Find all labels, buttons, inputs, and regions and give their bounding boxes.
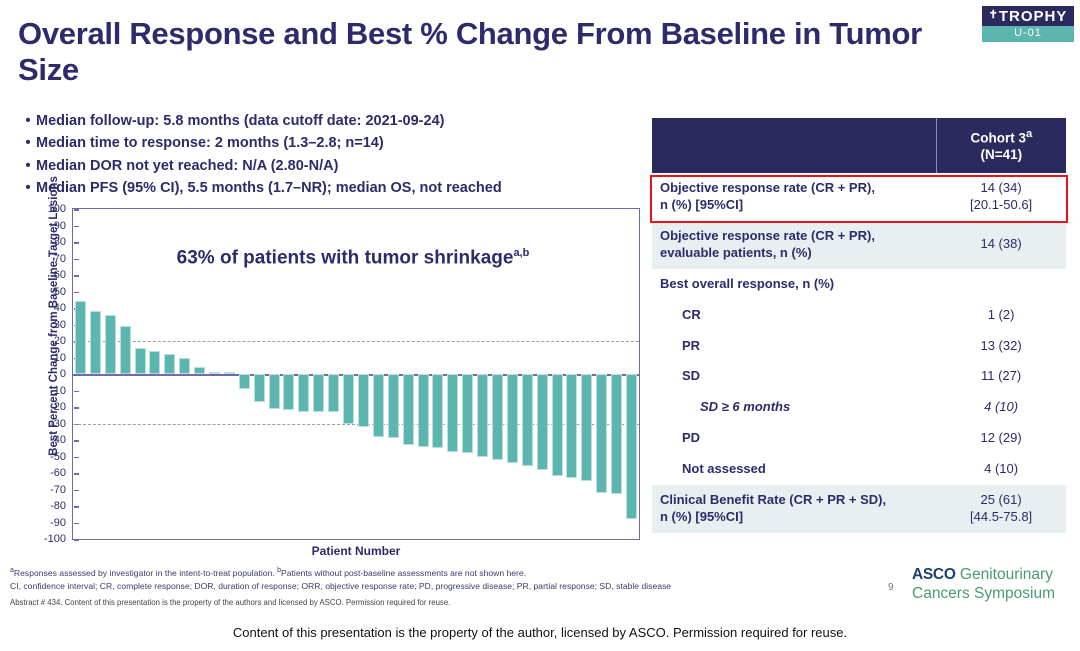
asco-subtitle-1: Genitourinary <box>956 566 1053 583</box>
chart-y-tick: -60 <box>50 467 73 479</box>
bullet-text: Median time to response: 2 months (1.3–2… <box>36 132 384 154</box>
chart-y-tick: 20 <box>54 335 73 347</box>
footnote-definitions: aResponses assessed by investigator in t… <box>10 566 770 593</box>
chart-bar <box>194 367 205 374</box>
table-cell-value: 13 (32) <box>936 331 1066 362</box>
table-cell-value: 14 (38) <box>936 221 1066 269</box>
chart-y-tick: -20 <box>50 401 73 413</box>
table-cell-label: CR <box>652 300 936 331</box>
chart-bar <box>581 374 592 481</box>
bullet-dot-icon: • <box>20 110 36 132</box>
chart-y-tick: 30 <box>54 319 73 331</box>
table-cell-label: PR <box>652 331 936 362</box>
chart-bar <box>179 358 190 375</box>
chart-annotation-text: 63% of patients with tumor shrinkage <box>177 247 514 268</box>
bullet-text: Median follow-up: 5.8 months (data cutof… <box>36 110 444 132</box>
table-cell-value: 11 (27) <box>936 361 1066 392</box>
table-cell-value: 25 (61)[44.5-75.8] <box>936 485 1066 533</box>
table-cell-label: Objective response rate (CR + PR),evalua… <box>652 221 936 269</box>
page-title: Overall Response and Best % Change From … <box>18 16 948 88</box>
chart-bar <box>373 374 384 437</box>
chart-bar <box>254 374 265 402</box>
chart-bar <box>120 326 131 374</box>
chart-bar <box>611 374 622 494</box>
asco-subtitle-2: Cancers Symposium <box>912 585 1055 602</box>
bullet-dot-icon: • <box>20 132 36 154</box>
table-cell-label: Objective response rate (CR + PR),n (%) … <box>652 173 936 221</box>
asco-logo-line1: ASCO Genitourinary <box>912 566 1055 585</box>
chart-bar <box>403 374 414 445</box>
chart-y-tick: 60 <box>54 269 73 281</box>
chart-y-tick: -70 <box>50 484 73 496</box>
chart-bar <box>239 374 250 389</box>
footnote-text-b: Patients without post-baseline assessmen… <box>281 568 526 578</box>
chart-bar <box>432 374 443 448</box>
trophy-logo-text: TROPHY <box>999 8 1068 25</box>
chart-y-tick: -100 <box>44 533 73 545</box>
chart-y-tick: 70 <box>54 253 73 265</box>
chart-bar <box>537 374 548 470</box>
chart-bar <box>477 374 488 457</box>
chart-y-tick: 80 <box>54 236 73 248</box>
chart-plot-area: 1009080706050403020100-10-20-30-40-50-60… <box>72 208 640 540</box>
footnote-abstract: Abstract # 434. Content of this presenta… <box>10 598 770 607</box>
chart-bar <box>298 374 309 412</box>
trophy-logo-sub: U-01 <box>982 26 1074 42</box>
chart-bar <box>343 374 354 424</box>
chart-y-tick: -30 <box>50 418 73 430</box>
table-header-blank <box>652 118 936 173</box>
table-cell-value <box>936 269 1066 300</box>
chart-bar <box>328 374 339 412</box>
footnote-line-2: CI, confidence interval; CR, complete re… <box>10 580 770 593</box>
chart-y-tick: 40 <box>54 302 73 314</box>
asco-logo: ASCO Genitourinary Cancers Symposium <box>912 566 1055 603</box>
table-cell-value: 4 (10) <box>936 392 1066 423</box>
table-cell-value: 14 (34)[20.1-50.6] <box>936 173 1066 221</box>
cohort-label: Cohort 3 <box>970 131 1026 146</box>
cross-icon: ✝ <box>989 9 999 21</box>
chart-bar <box>626 374 637 519</box>
chart-y-tick: 90 <box>54 220 73 232</box>
chart-bar <box>209 372 220 374</box>
table-cell-label: Clinical Benefit Rate (CR + PR + SD),n (… <box>652 485 936 533</box>
chart-y-tick: 50 <box>54 286 73 298</box>
chart-y-tick: -10 <box>50 385 73 397</box>
chart-y-tick: -50 <box>50 451 73 463</box>
table-row: Objective response rate (CR + PR),n (%) … <box>652 173 1066 221</box>
bullet-list: •Median follow-up: 5.8 months (data cuto… <box>20 110 650 200</box>
table-cell-value: 12 (29) <box>936 423 1066 454</box>
chart-bar <box>552 374 563 476</box>
chart-y-tick: -80 <box>50 500 73 512</box>
waterfall-chart: Best Percent Change from Baseline-Target… <box>10 200 646 565</box>
chart-bar <box>462 374 473 453</box>
chart-bar <box>269 374 280 409</box>
asco-brand: ASCO <box>912 566 956 583</box>
table-cell-value: 4 (10) <box>936 454 1066 485</box>
bullet-dot-icon: • <box>20 155 36 177</box>
slide: ✝TROPHY U-01 Overall Response and Best %… <box>0 0 1080 614</box>
bullet-dot-icon: • <box>20 177 36 199</box>
table-row: PD12 (29) <box>652 423 1066 454</box>
cohort-sup: a <box>1026 128 1032 140</box>
page-number: 9 <box>888 582 894 593</box>
list-item: •Median time to response: 2 months (1.3–… <box>20 132 650 154</box>
table-header-cohort: Cohort 3a(N=41) <box>936 118 1066 173</box>
list-item: •Median PFS (95% CI), 5.5 months (1.7–NR… <box>20 177 650 199</box>
chart-y-axis-label: Best Percent Change from Baseline-Target… <box>48 176 60 456</box>
chart-y-tick: -90 <box>50 517 73 529</box>
chart-x-axis-label: Patient Number <box>72 544 640 558</box>
chart-bar <box>522 374 533 466</box>
table-header-row: Cohort 3a(N=41) <box>652 118 1066 173</box>
chart-bar <box>596 374 607 493</box>
chart-bar <box>224 372 235 374</box>
table-row: SD11 (27) <box>652 361 1066 392</box>
list-item: •Median DOR not yet reached: N/A (2.80-N… <box>20 155 650 177</box>
results-table: Cohort 3a(N=41)Objective response rate (… <box>652 118 1066 533</box>
chart-bar <box>135 348 146 374</box>
table-row: Clinical Benefit Rate (CR + PR + SD),n (… <box>652 485 1066 533</box>
table-row: PR13 (32) <box>652 331 1066 362</box>
chart-y-tick: 0 <box>60 368 73 380</box>
bullet-text: Median DOR not yet reached: N/A (2.80-N/… <box>36 155 338 177</box>
footnote-text-a: Responses assessed by investigator in th… <box>14 568 277 578</box>
footnote-line-1: aResponses assessed by investigator in t… <box>10 566 770 580</box>
chart-bar <box>75 301 86 374</box>
chart-y-tick: 10 <box>54 352 73 364</box>
table-row: SD ≥ 6 months4 (10) <box>652 392 1066 423</box>
chart-bar <box>447 374 458 452</box>
chart-bar <box>358 374 369 427</box>
chart-bar <box>492 374 503 460</box>
table-row: Not assessed4 (10) <box>652 454 1066 485</box>
chart-bar <box>105 315 116 374</box>
table-cell-label: Best overall response, n (%) <box>652 269 936 300</box>
chart-bar <box>149 351 160 374</box>
chart-annotation: 63% of patients with tumor shrinkagea,b <box>113 247 593 269</box>
chart-bar <box>507 374 518 463</box>
table-row: CR1 (2) <box>652 300 1066 331</box>
table-cell-label: SD ≥ 6 months <box>652 392 936 423</box>
chart-bar <box>418 374 429 447</box>
chart-bar <box>283 374 294 410</box>
chart-bar <box>388 374 399 438</box>
asco-logo-line2: Cancers Symposium <box>912 585 1055 604</box>
chart-annotation-sup: a,b <box>513 247 529 259</box>
table-row: Best overall response, n (%) <box>652 269 1066 300</box>
trophy-logo-name: ✝TROPHY <box>982 6 1074 26</box>
table-cell-label: SD <box>652 361 936 392</box>
trophy-logo: ✝TROPHY U-01 <box>982 6 1074 42</box>
list-item: •Median follow-up: 5.8 months (data cuto… <box>20 110 650 132</box>
chart-bar <box>566 374 577 478</box>
table-cell-value: 1 (2) <box>936 300 1066 331</box>
table-cell-label: PD <box>652 423 936 454</box>
chart-bar <box>164 354 175 374</box>
cohort-n: (N=41) <box>981 147 1023 162</box>
chart-bar <box>90 311 101 374</box>
chart-y-tick: -40 <box>50 434 73 446</box>
table-cell-label: Not assessed <box>652 454 936 485</box>
table-row: Objective response rate (CR + PR),evalua… <box>652 221 1066 269</box>
bullet-text: Median PFS (95% CI), 5.5 months (1.7–NR)… <box>36 177 502 199</box>
chart-bar <box>313 374 324 412</box>
chart-y-tick: 100 <box>48 203 73 215</box>
slide-caption: Content of this presentation is the prop… <box>0 614 1080 651</box>
